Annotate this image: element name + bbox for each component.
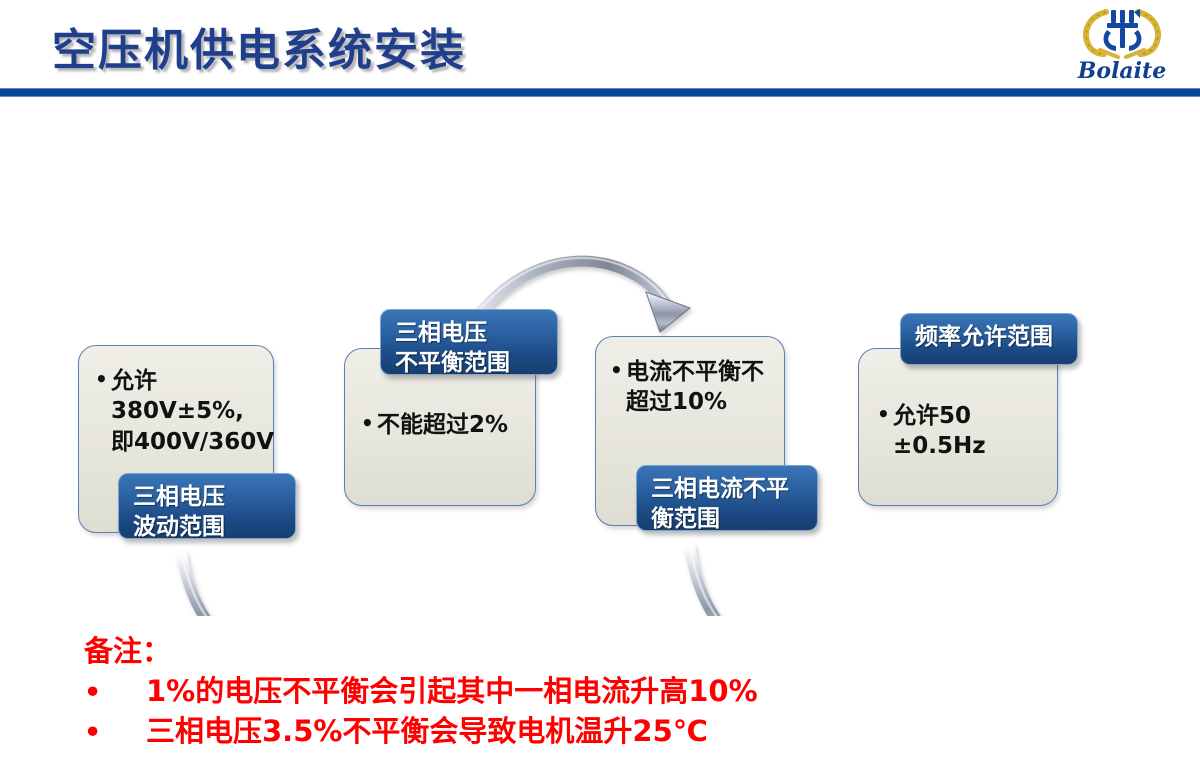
process-diagram: •允许 380V±5%, 即400V/360V 三相电压 波动范围 •不能超过2… bbox=[0, 96, 1200, 616]
label-frequency-range[interactable]: 频率允许范围 bbox=[900, 313, 1078, 365]
content-box-current-unbalance-text: •电流不平衡不 超过10% bbox=[626, 357, 796, 418]
content-bullet-icon: • bbox=[877, 401, 890, 427]
label-voltage-fluctuation[interactable]: 三相电压 波动范围 bbox=[118, 473, 296, 539]
arrow-1-to-2 bbox=[182, 538, 390, 616]
slide-header: 空压机供电系统安装 Bolaite bbox=[0, 0, 1200, 96]
notes-heading: 备注： bbox=[84, 636, 1104, 668]
content-box-frequency-range-text: •允许50 ±0.5Hz bbox=[893, 401, 1061, 462]
content-bullet-icon: • bbox=[610, 357, 623, 383]
label-voltage-unbalance[interactable]: 三相电压 不平衡范围 bbox=[380, 309, 558, 375]
content-box-voltage-unbalance-text: •不能超过2% bbox=[377, 410, 537, 440]
notes-block: 备注： • 1%的电压不平衡会引起其中一相电流升高10% • 三相电压3.5%不… bbox=[84, 636, 1104, 748]
logo-wordmark: Bolaite bbox=[1066, 58, 1178, 84]
arrow-3-to-4 bbox=[690, 545, 900, 616]
note-bullet-icon: • bbox=[84, 717, 146, 748]
note-item-1: • 1%的电压不平衡会引起其中一相电流升高10% bbox=[84, 675, 1104, 708]
content-box-voltage-fluctuation-text: •允许 380V±5%, 即400V/360V bbox=[111, 366, 279, 457]
bolaite-logo: Bolaite bbox=[1066, 4, 1178, 84]
page-title: 空压机供电系统安装 bbox=[52, 14, 466, 78]
label-current-unbalance[interactable]: 三相电流不平 衡范围 bbox=[636, 465, 818, 531]
note-item-1-text: 1%的电压不平衡会引起其中一相电流升高10% bbox=[146, 675, 758, 707]
content-box-frequency-range[interactable]: •允许50 ±0.5Hz bbox=[858, 348, 1058, 506]
note-item-2: • 三相电压3.5%不平衡会导致电机温升25℃ bbox=[84, 715, 1104, 748]
logo-emblem-icon bbox=[1066, 4, 1178, 60]
content-bullet-icon: • bbox=[95, 366, 108, 392]
note-bullet-icon: • bbox=[84, 677, 146, 708]
content-bullet-icon: • bbox=[361, 410, 374, 436]
note-item-2-text: 三相电压3.5%不平衡会导致电机温升25℃ bbox=[146, 715, 708, 747]
